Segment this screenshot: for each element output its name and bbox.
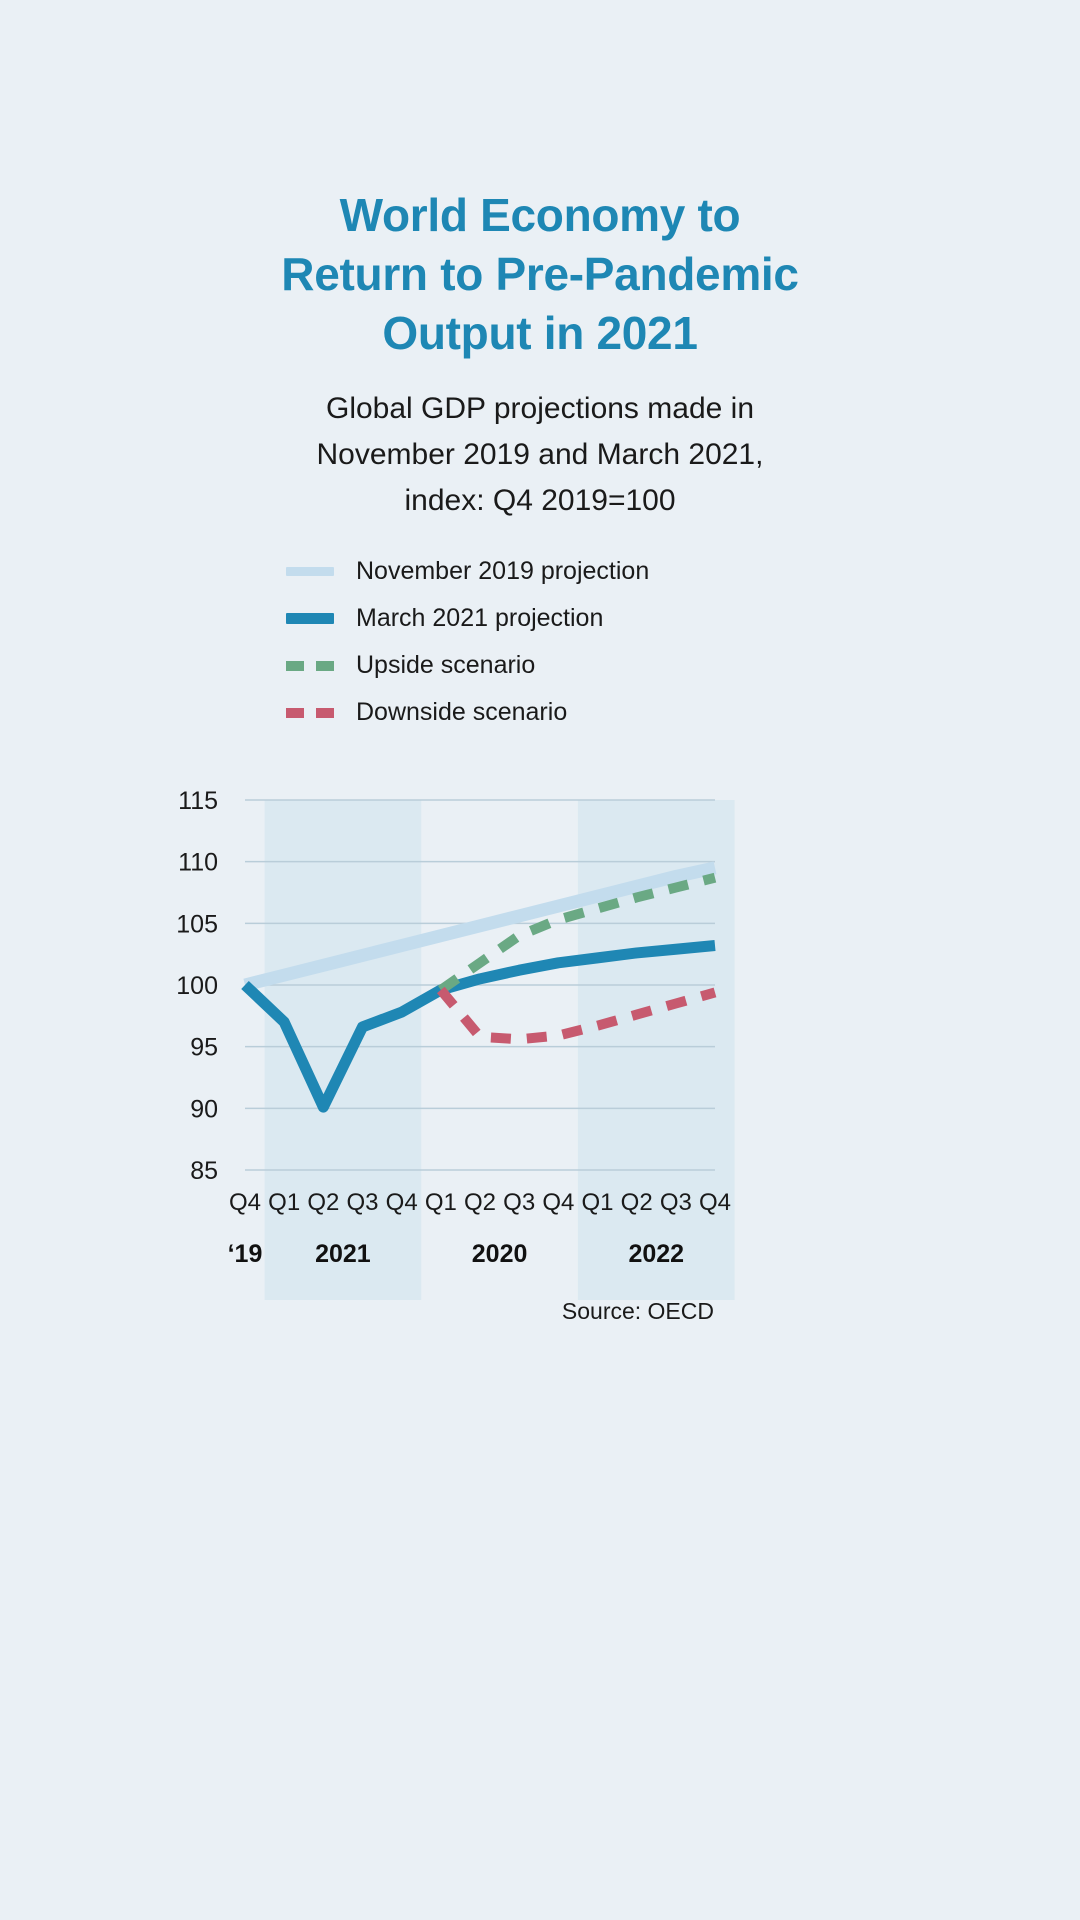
x-axis-year-label: ‘19 xyxy=(228,1240,263,1268)
x-axis-tick-label: Q1 xyxy=(425,1189,457,1216)
y-axis-tick-label: 95 xyxy=(190,1034,218,1062)
x-axis-tick-label: Q2 xyxy=(464,1189,496,1216)
legend-swatch-dashed-line-icon xyxy=(286,708,334,718)
legend-item-november-2019-projection: November 2019 projection xyxy=(286,548,806,595)
legend-label: March 2021 projection xyxy=(356,604,603,633)
legend-label: Upside scenario xyxy=(356,651,535,680)
legend-item-upside-scenario: Upside scenario xyxy=(286,642,806,689)
series-line-november-2019-projection xyxy=(245,868,715,985)
source-note: Source: OECD xyxy=(0,1298,714,1325)
title-line-2: Return to Pre-Pandemic xyxy=(0,245,1080,304)
series-line-march-2021-projection xyxy=(245,946,715,1108)
x-axis-tick-label: Q2 xyxy=(621,1189,653,1216)
y-axis-tick-label: 100 xyxy=(176,972,218,1000)
legend-swatch-dashed-line-icon xyxy=(286,661,334,671)
y-axis-tick-label: 110 xyxy=(178,849,218,877)
year-band-2022 xyxy=(578,800,735,1300)
page-subtitle: Global GDP projections made in November … xyxy=(0,386,1080,524)
y-axis-tick-label: 115 xyxy=(178,787,218,815)
infographic-page: World Economy to Return to Pre-Pandemic … xyxy=(0,0,1080,1920)
x-axis-tick-label: Q2 xyxy=(307,1189,339,1216)
title-line-1: World Economy to xyxy=(0,186,1080,245)
y-axis-tick-label: 85 xyxy=(190,1157,218,1185)
chart-legend: November 2019 projection March 2021 proj… xyxy=(286,548,806,736)
x-axis-tick-label: Q3 xyxy=(660,1189,692,1216)
x-axis-tick-label: Q1 xyxy=(268,1189,300,1216)
subtitle-line-3: index: Q4 2019=100 xyxy=(0,478,1080,524)
x-axis-year-label: 2022 xyxy=(628,1240,684,1268)
subtitle-line-2: November 2019 and March 2021, xyxy=(0,432,1080,478)
x-axis-tick-label: Q4 xyxy=(229,1189,261,1216)
legend-item-march-2021-projection: March 2021 projection xyxy=(286,595,806,642)
x-axis-year-label: 2021 xyxy=(315,1240,371,1268)
x-axis-tick-label: Q1 xyxy=(581,1189,613,1216)
legend-swatch-line-icon xyxy=(286,567,334,576)
x-axis-year-label: 2020 xyxy=(472,1240,528,1268)
year-band-2021 xyxy=(265,800,422,1300)
series-line-upside-scenario xyxy=(441,878,715,990)
x-axis-tick-label: Q3 xyxy=(503,1189,535,1216)
page-title: World Economy to Return to Pre-Pandemic … xyxy=(0,186,1080,363)
title-line-3: Output in 2021 xyxy=(0,304,1080,363)
x-axis-tick-label: Q3 xyxy=(346,1189,378,1216)
y-axis-tick-label: 90 xyxy=(190,1095,218,1123)
series-line-downside-scenario xyxy=(441,990,715,1039)
x-axis-tick-label: Q4 xyxy=(386,1189,418,1216)
x-axis-tick-label: Q4 xyxy=(542,1189,574,1216)
legend-swatch-line-icon xyxy=(286,613,334,624)
x-axis-tick-label: Q4 xyxy=(699,1189,731,1216)
legend-label: November 2019 projection xyxy=(356,557,649,586)
y-axis-tick-label: 105 xyxy=(176,910,218,938)
legend-label: Downside scenario xyxy=(356,698,567,727)
legend-item-downside-scenario: Downside scenario xyxy=(286,689,806,736)
subtitle-line-1: Global GDP projections made in xyxy=(0,386,1080,432)
